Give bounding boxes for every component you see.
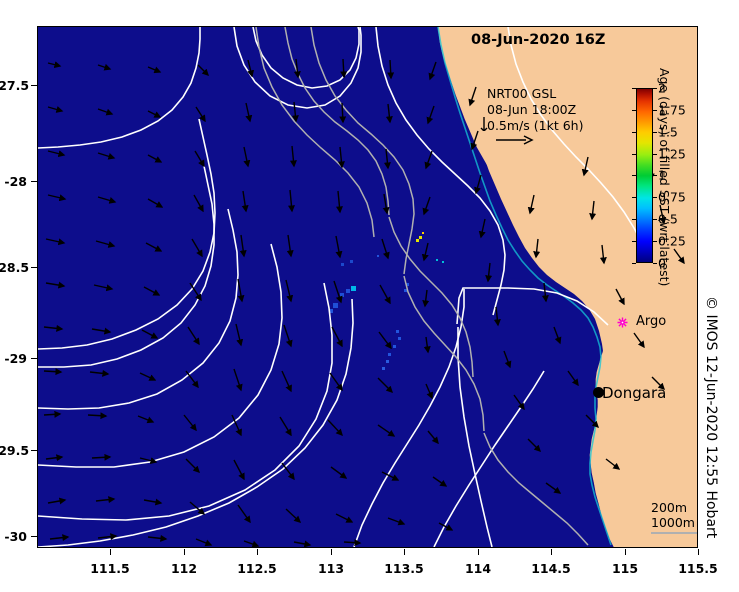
depth-200m-label: 200m [651, 500, 695, 515]
y-tick-label-4: -29.5 [0, 443, 27, 458]
y-tick-label-5: -30 [0, 529, 27, 544]
x-tick-label-6: 114.5 [521, 561, 581, 576]
reference-vector-icon [494, 134, 534, 146]
reference-barb-icon [479, 117, 489, 131]
colorbar-gradient [636, 88, 653, 263]
x-tick-label-3: 113 [301, 561, 361, 576]
y-tick-label-1: -28 [0, 174, 27, 189]
colorbar-title: Age (days) of filled SST (wrt latest) [657, 68, 672, 286]
argo-float-marker-icon[interactable] [617, 317, 628, 328]
map-graphic [38, 27, 697, 547]
depth-legend-rule [651, 532, 697, 534]
x-tick-label-0: 111.5 [80, 561, 140, 576]
depth-contour-legend: 200m 1000m [651, 500, 695, 530]
y-tick-label-3: -29 [0, 351, 27, 366]
x-tick-label-5: 114 [448, 561, 508, 576]
dongara-label: Dongara [602, 384, 666, 402]
y-tick-label-0: -27.5 [0, 78, 27, 93]
x-tick-label-1: 112 [154, 561, 214, 576]
x-tick-label-8: 115.5 [668, 561, 728, 576]
x-tick-label-7: 115 [595, 561, 655, 576]
figure-canvas: 08-Jun-2020 16Z NRT00 GSL 08-Jun 18:00Z … [0, 0, 739, 592]
map-plot-area[interactable]: 08-Jun-2020 16Z NRT00 GSL 08-Jun 18:00Z … [37, 26, 698, 548]
gsl-annotation: NRT00 GSL 08-Jun 18:00Z 0.5m/s (1kt 6h) [487, 86, 583, 134]
gsl-scale-label: 0.5m/s (1kt 6h) [487, 118, 583, 134]
gsl-time-label: 08-Jun 18:00Z [487, 102, 583, 118]
y-tick-label-2: -28.5 [0, 260, 27, 275]
imos-credit-label: © IMOS 12-Jun-2020 12:55 Hobart [703, 296, 719, 538]
x-tick-label-4: 113.5 [374, 561, 434, 576]
x-tick-label-2: 112.5 [227, 561, 287, 576]
timestamp-label: 08-Jun-2020 16Z [471, 32, 605, 48]
depth-1000m-label: 1000m [651, 515, 695, 530]
argo-label: Argo [636, 314, 666, 329]
gsl-product-label: NRT00 GSL [487, 86, 583, 102]
colorbar[interactable]: 0 0.25 0.5 0.75 1 1.25 1.5 1.75 2 [636, 88, 653, 263]
